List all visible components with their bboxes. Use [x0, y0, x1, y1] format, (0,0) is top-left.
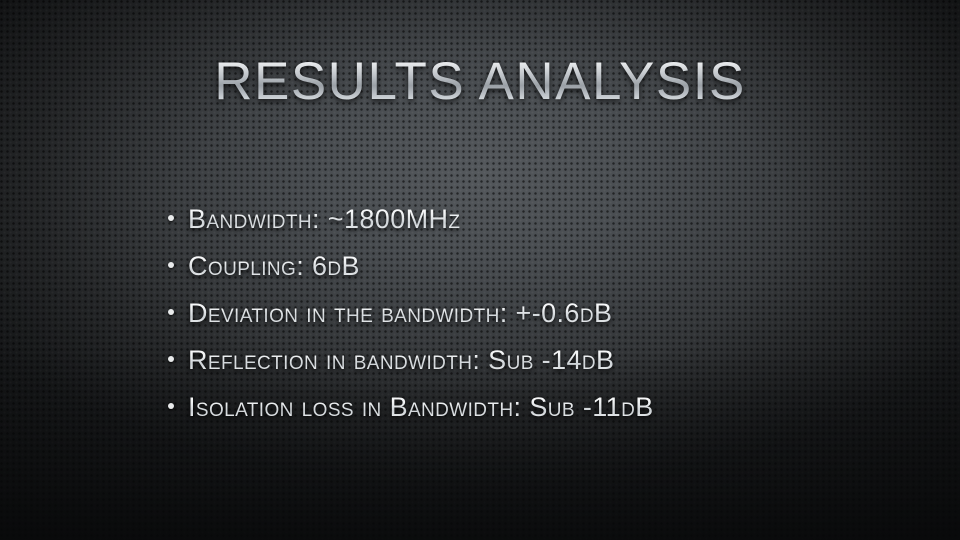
- slide-title: Results Analysis: [0, 52, 960, 112]
- list-item: Deviation in the bandwidth: +-0.6dB: [168, 297, 868, 344]
- list-item: Bandwidth: ~1800MHz: [168, 203, 868, 250]
- list-item-label: Bandwidth: ~1800MHz: [188, 203, 460, 235]
- list-item: Coupling: 6dB: [168, 250, 868, 297]
- list-item-label: Deviation in the bandwidth: +-0.6dB: [188, 297, 612, 329]
- bullet-marker-icon: [168, 215, 174, 221]
- bullet-list: Bandwidth: ~1800MHz Coupling: 6dB Deviat…: [168, 203, 868, 438]
- bullet-marker-icon: [168, 403, 174, 409]
- list-item: Isolation loss in Bandwidth: Sub -11dB: [168, 391, 868, 438]
- presentation-slide: Results Analysis Bandwidth: ~1800MHz Cou…: [0, 0, 960, 540]
- list-item: Reflection in bandwidth: Sub -14dB: [168, 344, 868, 391]
- bullet-marker-icon: [168, 262, 174, 268]
- list-item-label: Reflection in bandwidth: Sub -14dB: [188, 344, 614, 376]
- bullet-marker-icon: [168, 356, 174, 362]
- list-item-label: Isolation loss in Bandwidth: Sub -11dB: [188, 391, 654, 423]
- bullet-marker-icon: [168, 309, 174, 315]
- list-item-label: Coupling: 6dB: [188, 250, 360, 282]
